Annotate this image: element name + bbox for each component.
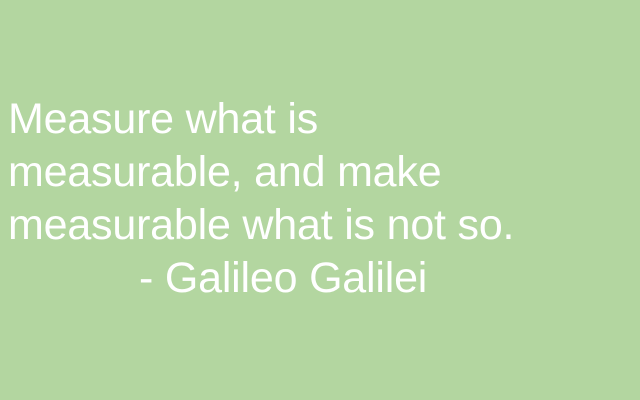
quote-line-3: measurable what is not so. [8,199,632,252]
quote-line-1: Measure what is [8,93,632,146]
quote-attribution: - Galileo Galilei [8,252,632,305]
quote-line-2: measurable, and make [8,146,632,199]
quote-card: Measure what is measurable, and make mea… [0,0,640,400]
quote-content-block: Measure what is measurable, and make mea… [0,0,640,400]
quote-text: Measure what is measurable, and make mea… [8,93,632,252]
